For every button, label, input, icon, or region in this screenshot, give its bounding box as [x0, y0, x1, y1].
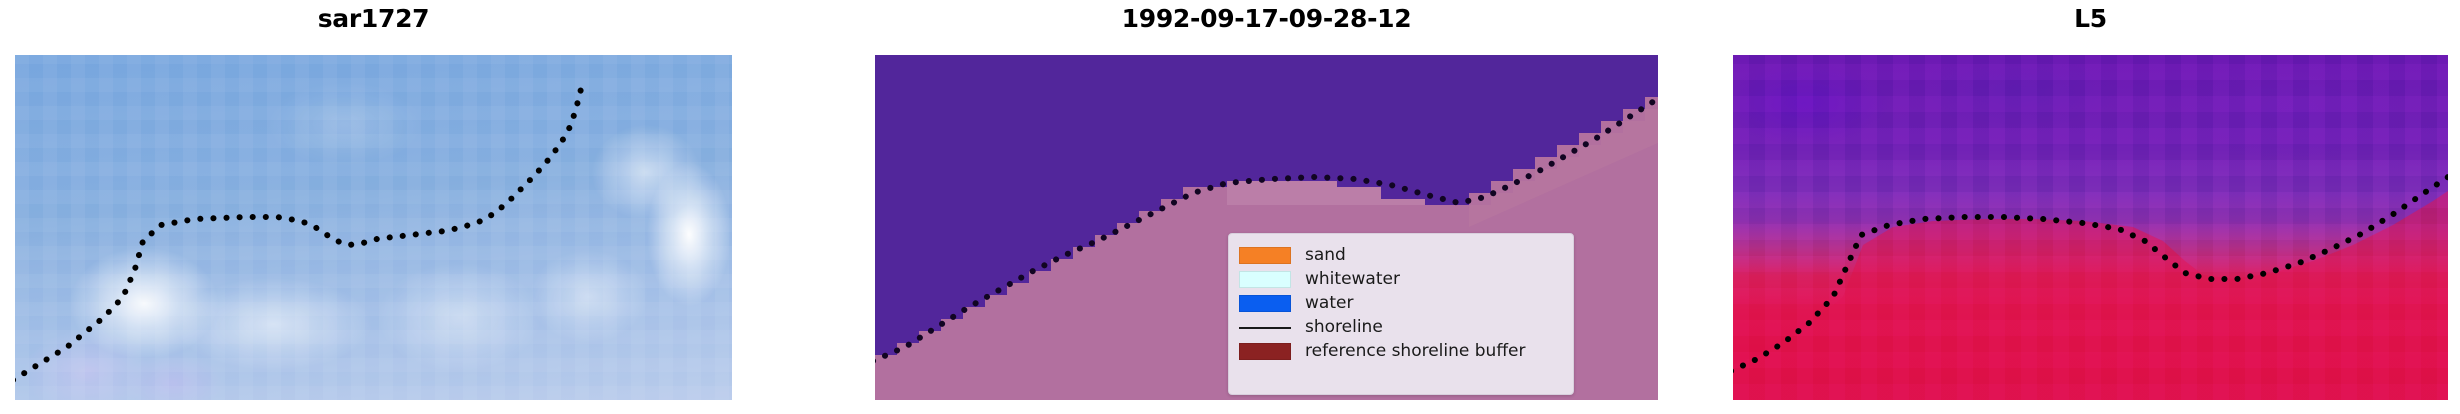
panel-classified-axes: sand whitewater water shoreline referenc… — [875, 55, 1658, 400]
panel-l5-title: L5 — [1733, 4, 2448, 34]
panel-sar-title: sar1727 — [15, 4, 732, 34]
legend-label-water: water — [1305, 294, 1353, 313]
panel-l5-axes — [1733, 55, 2448, 400]
legend-label-whitewater: whitewater — [1305, 270, 1400, 289]
legend-swatch-sand — [1239, 247, 1291, 264]
legend-item-whitewater[interactable]: whitewater — [1239, 267, 1562, 291]
panel-sar-axes — [15, 55, 732, 400]
legend-item-sand[interactable]: sand — [1239, 243, 1562, 267]
panel-classified: 1992-09-17-09-28-12 sand whitewat — [875, 0, 1658, 414]
figure-canvas: sar1727 1992-09-17-09-28-12 — [0, 0, 2460, 414]
legend[interactable]: sand whitewater water shoreline referenc… — [1228, 233, 1574, 395]
legend-swatch-water — [1239, 295, 1291, 312]
legend-item-water[interactable]: water — [1239, 291, 1562, 315]
legend-swatch-whitewater — [1239, 271, 1291, 288]
l5-shoreline-overlay — [1733, 55, 2448, 400]
panel-sar: sar1727 — [15, 0, 732, 414]
l5-shoreline-path — [1733, 177, 2448, 371]
sar-shoreline-overlay — [15, 55, 732, 400]
legend-line-shoreline — [1239, 319, 1291, 336]
legend-item-shoreline[interactable]: shoreline — [1239, 315, 1562, 339]
legend-label-sand: sand — [1305, 246, 1346, 265]
sar-shoreline-path — [15, 89, 581, 380]
panel-classified-title: 1992-09-17-09-28-12 — [875, 4, 1658, 34]
panel-l5: L5 — [1733, 0, 2448, 414]
legend-item-reference-shoreline-buffer[interactable]: reference shoreline buffer — [1239, 339, 1562, 363]
legend-swatch-reference-shoreline-buffer — [1239, 343, 1291, 360]
legend-label-reference-shoreline-buffer: reference shoreline buffer — [1305, 342, 1526, 361]
legend-label-shoreline: shoreline — [1305, 318, 1383, 337]
